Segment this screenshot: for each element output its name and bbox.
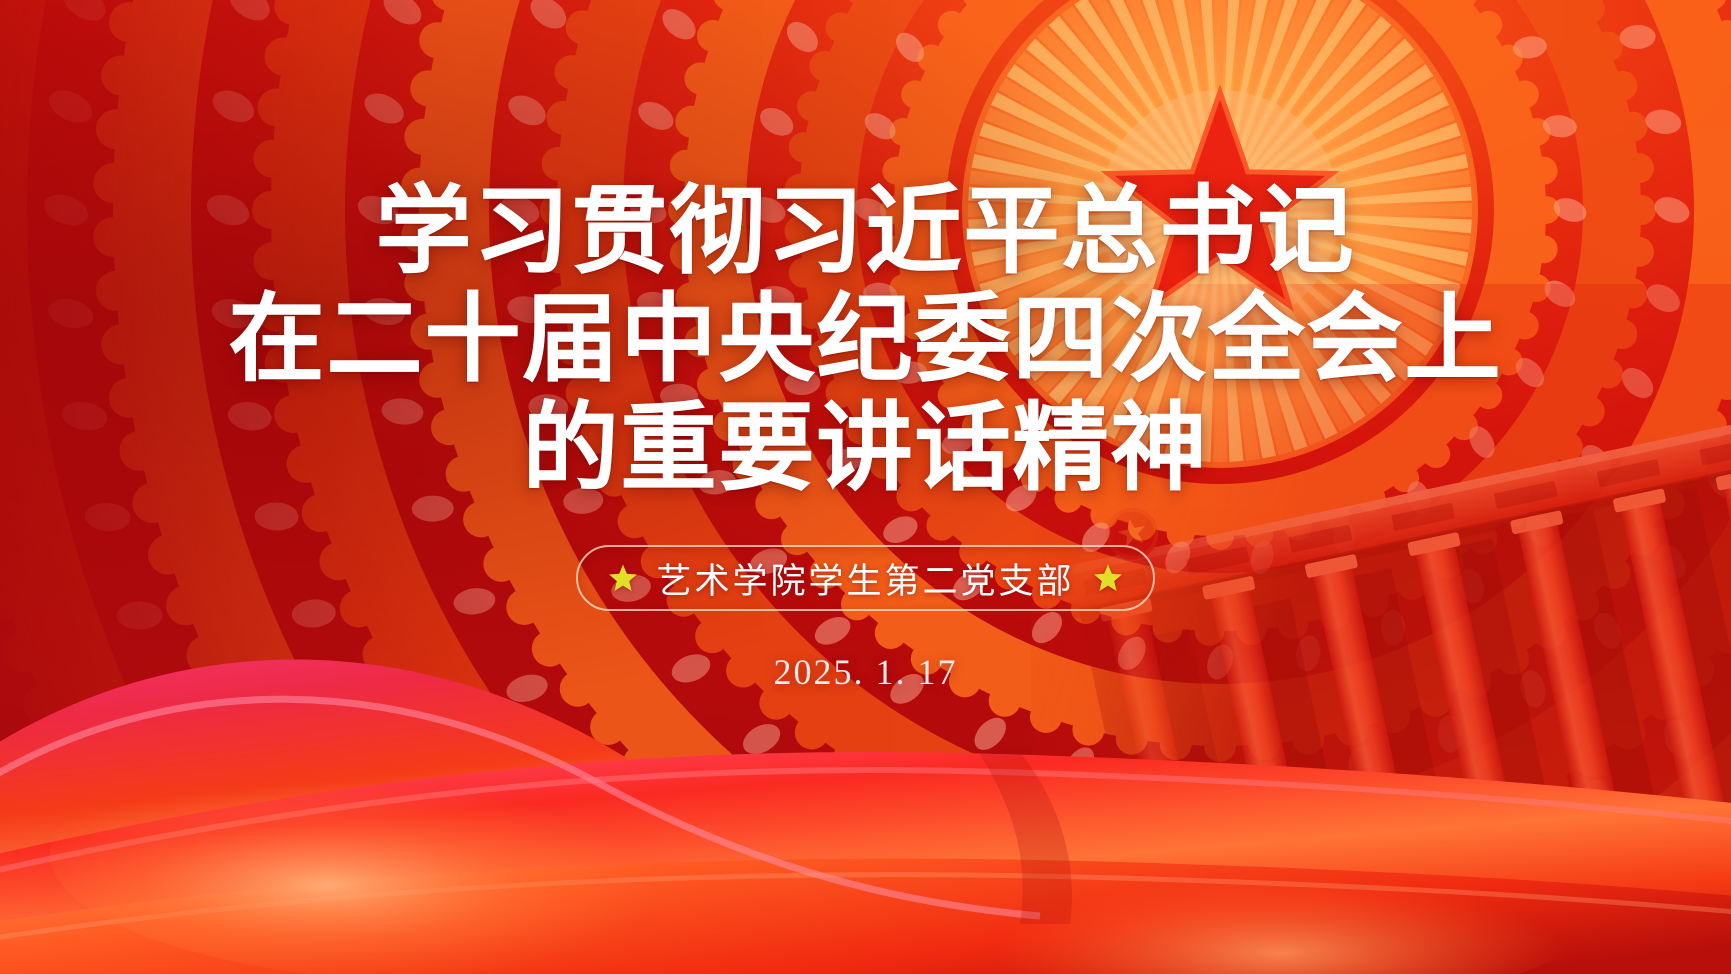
date-text: 2025. 1. 17	[774, 651, 958, 693]
star-icon	[608, 563, 638, 593]
star-icon	[1093, 563, 1123, 593]
organization-badge: 艺术学院学生第二党支部	[576, 545, 1154, 611]
title-line-1: 学习贯彻习近平总书记	[229, 178, 1503, 286]
title-line-2: 在二十届中央纪委四次全会上	[229, 286, 1503, 394]
page-title: 学习贯彻习近平总书记 在二十届中央纪委四次全会上 的重要讲话精神	[229, 178, 1503, 503]
title-line-3: 的重要讲话精神	[229, 395, 1503, 503]
organization-name: 艺术学院学生第二党支部	[656, 553, 1074, 604]
poster-slide: 学习贯彻习近平总书记 在二十届中央纪委四次全会上 的重要讲话精神 艺术学院学生第…	[0, 0, 1731, 974]
slide-content: 学习贯彻习近平总书记 在二十届中央纪委四次全会上 的重要讲话精神 艺术学院学生第…	[0, 0, 1731, 974]
